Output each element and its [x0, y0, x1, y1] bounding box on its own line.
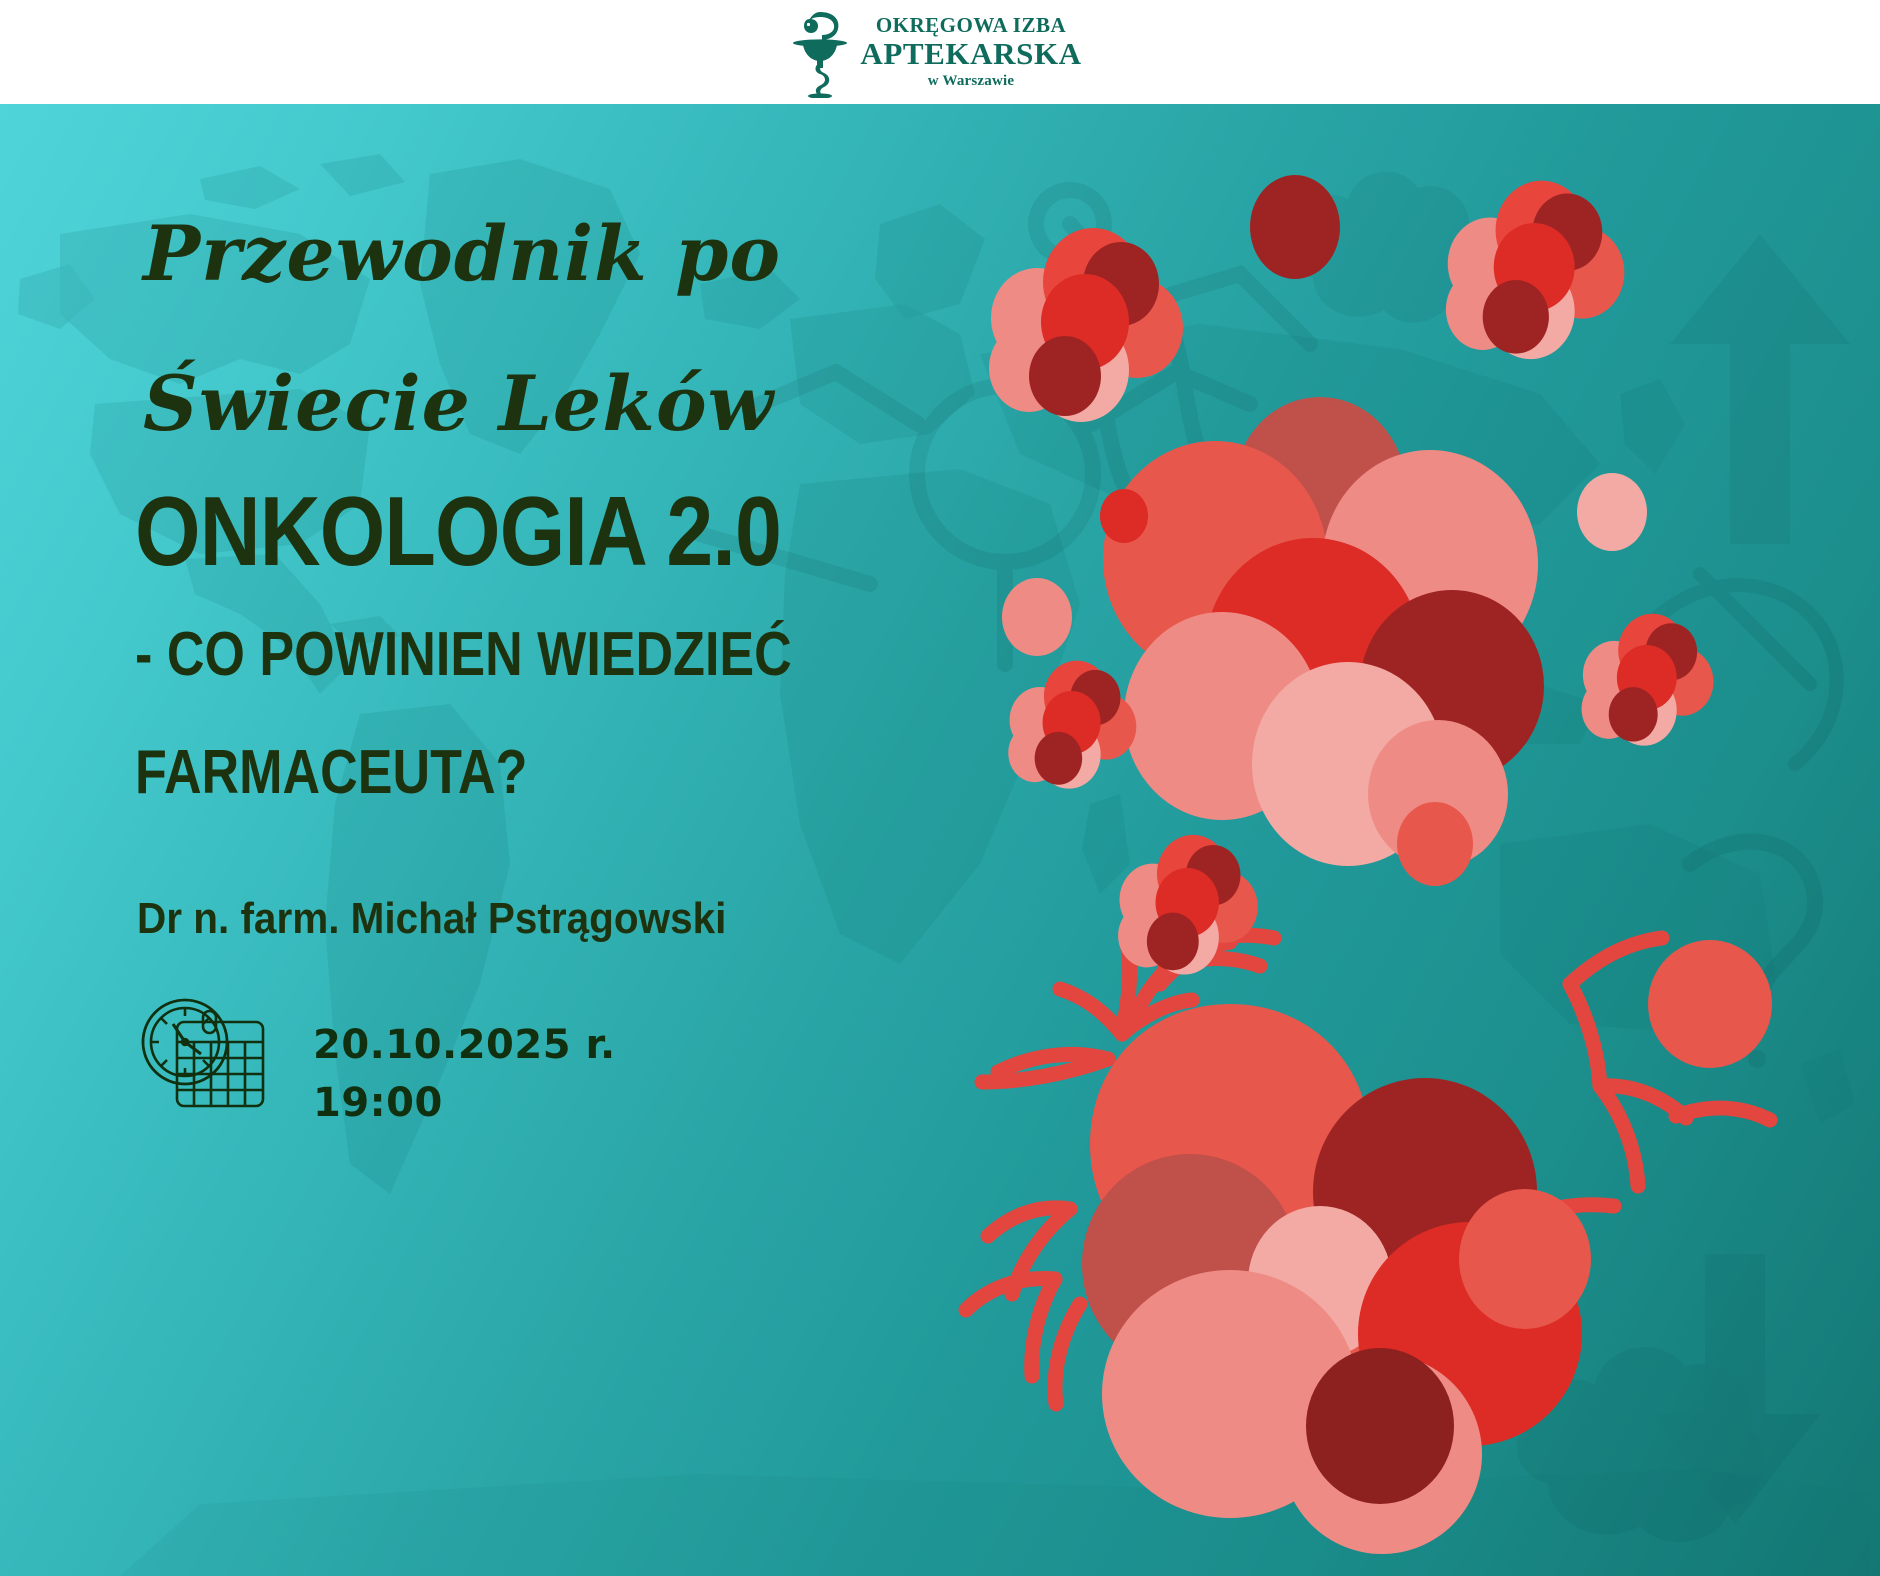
cell [1577, 473, 1647, 551]
cell [1397, 802, 1473, 886]
cell-cluster [1446, 181, 1624, 359]
organization-logo: OKRĘGOWA IZBA APTEKARSKA w Warszawie [790, 6, 1081, 98]
tumor-body [1082, 1004, 1591, 1554]
cell [1250, 175, 1340, 279]
logo-line-2: APTEKARSKA [860, 38, 1081, 69]
cell-cluster [989, 228, 1183, 422]
logo-line-1: OKRĘGOWA IZBA [876, 15, 1066, 36]
cell [1648, 940, 1772, 1068]
event-time: 19:00 [313, 1074, 616, 1132]
script-line-1: Przewodnik po [143, 216, 781, 292]
upper-cell-field [989, 175, 1713, 886]
cancer-cells-illustration [870, 104, 1880, 1576]
cell-cluster-large [1103, 397, 1544, 868]
event-datetime: 20.10.2025 r. 19:00 [313, 992, 616, 1132]
cell [1100, 489, 1148, 543]
clock-calendar-icon [137, 994, 279, 1114]
tumor-with-tendrils [966, 835, 1772, 1554]
page-title: ONKOLOGIA 2.0 [135, 482, 781, 580]
subtitle-line-1: - CO POWINIEN WIEDZIEĆ [135, 624, 792, 686]
speaker-name: Dr n. farm. Michał Pstrągowski [137, 894, 726, 944]
poster-canvas: Przewodnik po Świecie Leków ONKOLOGIA 2.… [0, 104, 1880, 1576]
script-line-2: Świecie Leków [143, 366, 774, 442]
subtitle-line-2: FARMACEUTA? [135, 742, 527, 804]
bowl-of-hygieia-icon [790, 6, 850, 98]
logo-line-3: w Warszawie [928, 74, 1015, 89]
logo-bar: OKRĘGOWA IZBA APTEKARSKA w Warszawie [0, 0, 1880, 104]
event-date: 20.10.2025 r. [313, 1016, 616, 1074]
poster-root: OKRĘGOWA IZBA APTEKARSKA w Warszawie [0, 0, 1880, 1576]
datetime-block: 20.10.2025 r. 19:00 [137, 992, 616, 1132]
cell-cluster [1582, 614, 1714, 746]
cell-cluster [1008, 661, 1136, 789]
cell [1002, 578, 1072, 656]
logo-wordmark: OKRĘGOWA IZBA APTEKARSKA w Warszawie [860, 15, 1081, 89]
